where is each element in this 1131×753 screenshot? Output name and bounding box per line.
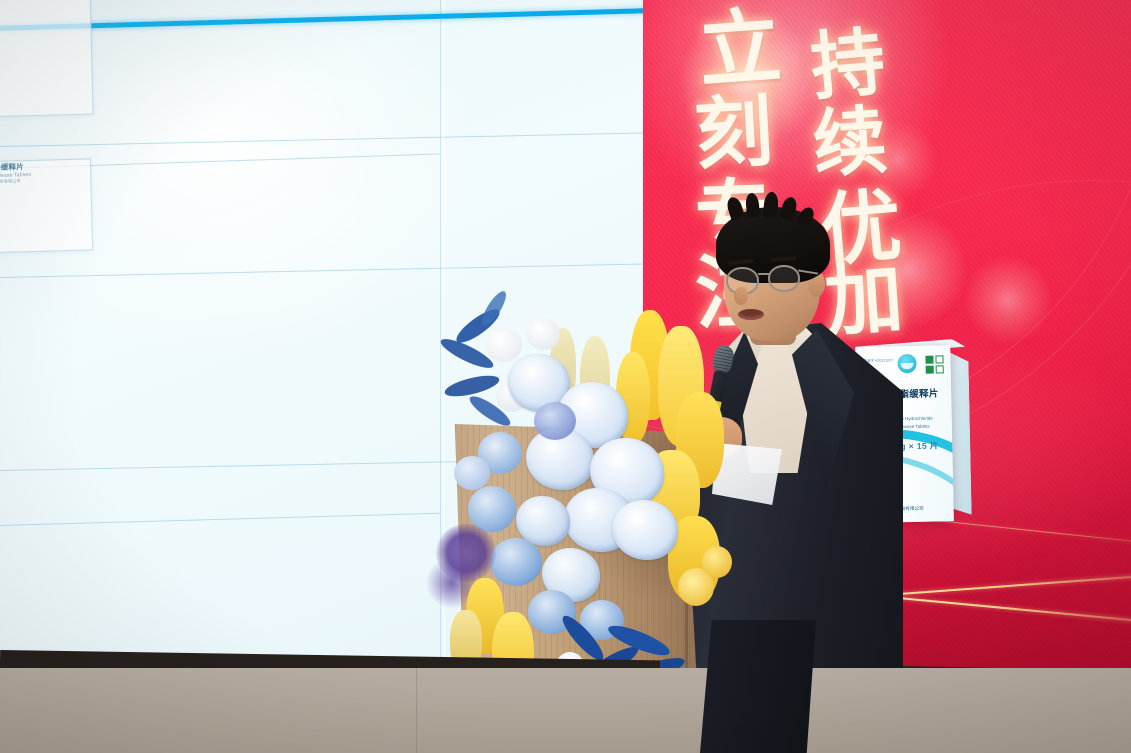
slide-card-footer: 合肥立方制药股份有限公司	[0, 176, 90, 185]
regulatory-icon-4	[936, 365, 944, 373]
blue-hydrangea-2	[454, 456, 490, 490]
blue-rose-3	[490, 538, 542, 586]
eyeglasses-lens-right	[768, 265, 800, 292]
banner-char-li: 立	[696, 5, 784, 93]
photo-scene: 18 mg 复方哌嗪缓释片 Extended-release Tablets 合…	[0, 0, 1131, 753]
slide-product-card-mid: 复方哌嗪缓释片 Extended-release Tablets 合肥立方制药股…	[0, 158, 93, 253]
regulatory-icon-3	[926, 366, 934, 374]
yellow-rose-2	[702, 546, 732, 578]
speaker-lower-body	[700, 620, 816, 753]
regulatory-icon-2	[935, 355, 943, 363]
wall-panel	[0, 668, 1131, 753]
slide-divider-5	[0, 513, 440, 526]
mouth	[738, 309, 764, 320]
white-rose-2	[526, 318, 560, 350]
banner-char-ke: 刻	[693, 93, 775, 175]
banner-char-xu: 续	[811, 104, 890, 183]
banner-char-chi: 持	[808, 25, 888, 105]
nose	[734, 287, 748, 305]
white-rose-1	[486, 328, 522, 362]
blue-hydrangea-1	[534, 402, 576, 440]
regulatory-icon-1	[925, 356, 933, 364]
eyeglasses-bridge	[758, 273, 770, 275]
hair-spike-3	[763, 191, 779, 217]
slide-product-card-top: 18 mg	[0, 0, 94, 117]
orchid-6	[612, 500, 678, 560]
spark-burst-4	[963, 255, 1053, 345]
wall-panel-seam	[416, 668, 417, 753]
